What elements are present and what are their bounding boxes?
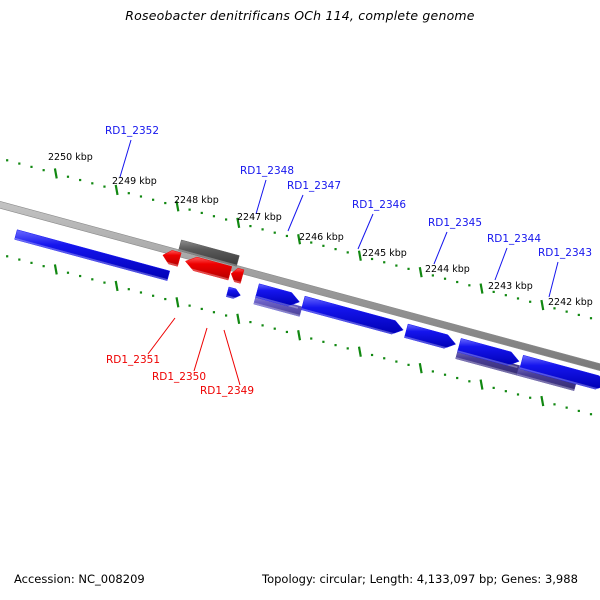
- gene-label-RD1_2348[interactable]: RD1_2348: [240, 165, 294, 177]
- gene-label-RD1_2345[interactable]: RD1_2345: [428, 217, 482, 229]
- leader-line-RD1_2349: [224, 330, 240, 385]
- coordinate-label: 2250 kbp: [48, 152, 93, 163]
- leader-line-RD1_2346: [358, 214, 373, 249]
- coordinate-label: 2243 kbp: [488, 281, 533, 292]
- forward-gene-label-layer[interactable]: RD1_2352RD1_2348RD1_2347RD1_2346RD1_2345…: [105, 125, 592, 259]
- gene-label-RD1_2350[interactable]: RD1_2350: [152, 371, 206, 383]
- gene-label-RD1_2352[interactable]: RD1_2352: [105, 125, 159, 137]
- coordinate-label: 2245 kbp: [362, 248, 407, 259]
- gene-RD1_2352[interactable]: [15, 230, 170, 281]
- leader-line-RD1_2348: [256, 180, 266, 214]
- genome-viewer: Roseobacter denitrificans OCh 114, compl…: [0, 0, 600, 600]
- gene-label-RD1_2343[interactable]: RD1_2343: [538, 247, 592, 259]
- gene-glyph-layer[interactable]: [15, 230, 600, 392]
- coordinate-label-layer: 2250 kbp2249 kbp2248 kbp2247 kbp2246 kbp…: [48, 152, 593, 308]
- leader-line-RD1_2347: [288, 195, 303, 231]
- gene-label-RD1_2349[interactable]: RD1_2349: [200, 385, 254, 397]
- coordinate-label: 2247 kbp: [237, 212, 282, 223]
- gene-label-RD1_2344[interactable]: RD1_2344: [487, 233, 541, 245]
- ruler-ticks-lower: [0, 248, 600, 422]
- reverse-gene-label-layer[interactable]: RD1_2351RD1_2350RD1_2349: [106, 354, 254, 397]
- coordinate-label: 2249 kbp: [112, 176, 157, 187]
- leader-line-RD1_2345: [434, 232, 447, 264]
- accession-text: Accession: NC_008209: [14, 572, 145, 586]
- gene-label-RD1_2346[interactable]: RD1_2346: [352, 199, 406, 211]
- coordinate-label: 2244 kbp: [425, 264, 470, 275]
- leader-line-RD1_2350: [194, 328, 207, 371]
- leader-line-RD1_2352: [120, 140, 131, 177]
- leader-line-RD1_2344: [495, 248, 507, 280]
- coordinate-label: 2246 kbp: [299, 232, 344, 243]
- leader-line-RD1_2343: [549, 262, 558, 297]
- coordinate-label: 2242 kbp: [548, 297, 593, 308]
- genome-stats-text: Topology: circular; Length: 4,133,097 bp…: [262, 572, 578, 586]
- coordinate-label: 2248 kbp: [174, 195, 219, 206]
- genome-map[interactable]: 2250 kbp2249 kbp2248 kbp2247 kbp2246 kbp…: [0, 0, 600, 600]
- leader-line-RD1_2351: [148, 318, 175, 354]
- gene-label-RD1_2347[interactable]: RD1_2347: [287, 180, 341, 192]
- gene-label-RD1_2351[interactable]: RD1_2351: [106, 354, 160, 366]
